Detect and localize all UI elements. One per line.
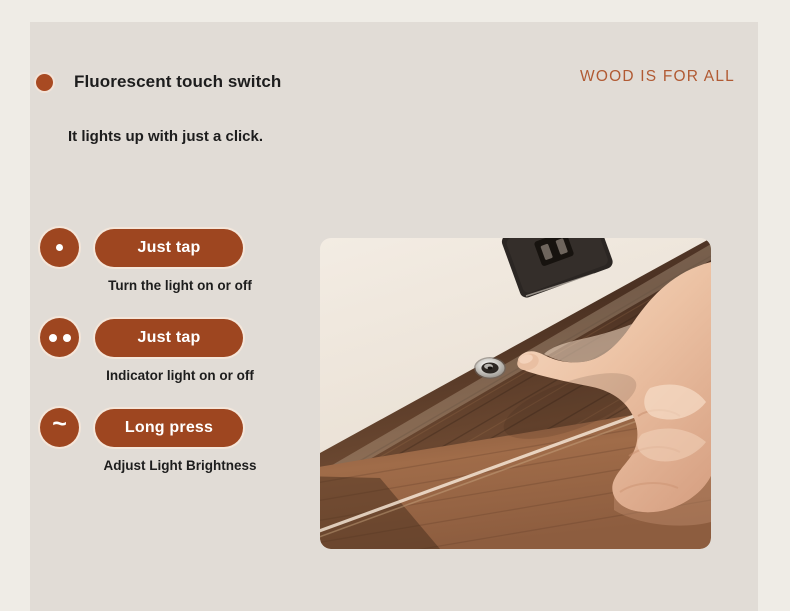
dot-glyph [56, 244, 63, 251]
one-dot-icon [40, 228, 79, 267]
feature-list: Just tap Turn the light on or off Just t… [40, 228, 302, 498]
page-title: Fluorescent touch switch [74, 72, 281, 92]
dot-pair-glyph [49, 334, 71, 342]
feature-row-2-main: Just tap [40, 318, 302, 357]
two-dots-icon [40, 318, 79, 357]
tilde-glyph: ~ [52, 412, 67, 437]
page-root: Fluorescent touch switch It lights up wi… [0, 0, 790, 611]
page-subtitle: It lights up with just a click. [68, 128, 263, 145]
feature-caption-2: Indicator light on or off [40, 368, 302, 383]
feature-caption-1: Turn the light on or off [40, 278, 302, 293]
product-photo-illustration [320, 238, 711, 549]
product-photo [320, 238, 711, 549]
long-press-button[interactable]: Long press [95, 409, 243, 447]
feature-row-3-main: ~ Long press [40, 408, 302, 447]
feature-row-1: Just tap Turn the light on or off [40, 228, 302, 293]
feature-row-1-main: Just tap [40, 228, 302, 267]
brand-tagline: WOOD IS FOR ALL [580, 68, 735, 86]
tilde-wave-icon: ~ [40, 408, 79, 447]
feature-row-3: ~ Long press Adjust Light Brightness [40, 408, 302, 473]
feature-caption-3: Adjust Light Brightness [40, 458, 302, 473]
bullet-dot-icon [36, 74, 53, 91]
feature-row-2: Just tap Indicator light on or off [40, 318, 302, 383]
heading-row: Fluorescent touch switch [36, 72, 281, 92]
just-tap-button-2[interactable]: Just tap [95, 319, 243, 357]
just-tap-button-1[interactable]: Just tap [95, 229, 243, 267]
